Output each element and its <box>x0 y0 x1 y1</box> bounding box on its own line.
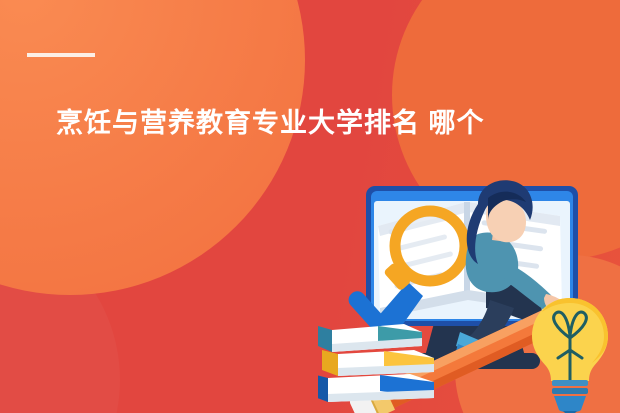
book-stack-icon <box>318 324 434 402</box>
banner: 烹饪与营养教育专业大学排名 哪个 <box>0 0 620 413</box>
yellow-book-icon <box>322 350 434 376</box>
blue-book-icon <box>318 374 434 402</box>
page-title: 烹饪与营养教育专业大学排名 哪个 <box>56 104 576 142</box>
title-accent-rule <box>27 53 95 57</box>
teal-book-icon <box>318 324 422 352</box>
study-research-illustration <box>318 168 620 413</box>
idea-lightbulb-icon <box>532 298 608 413</box>
